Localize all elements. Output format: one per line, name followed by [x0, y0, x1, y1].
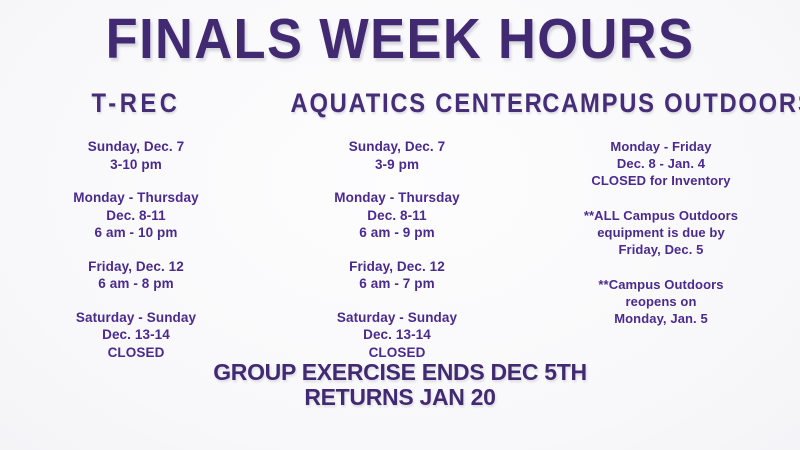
schedule-column-trec: T-REC Sunday, Dec. 7 3-10 pm Monday - Th…	[0, 88, 272, 361]
schedule-line: 6 am - 9 pm	[276, 224, 518, 242]
schedule-entry: Friday, Dec. 12 6 am - 7 pm	[276, 258, 518, 293]
schedule-line: Friday, Dec. 5	[526, 241, 796, 258]
schedule-entry: Saturday - Sunday Dec. 13-14 CLOSED	[276, 309, 518, 362]
schedule-column-aquatics-center: AQUATICS CENTER Sunday, Dec. 7 3-9 pm Mo…	[272, 88, 522, 361]
schedule-line: **ALL Campus Outdoors	[526, 207, 796, 224]
schedule-entry: Monday - Thursday Dec. 8-11 6 am - 9 pm	[276, 189, 518, 242]
schedule-line: Friday, Dec. 12	[10, 258, 262, 276]
group-exercise-banner: GROUP EXERCISE ENDS DEC 5TH RETURNS JAN …	[0, 360, 800, 410]
schedule-line: 3-10 pm	[10, 156, 262, 174]
schedule-columns: T-REC Sunday, Dec. 7 3-10 pm Monday - Th…	[0, 88, 800, 361]
finals-week-hours-poster: FINALS WEEK HOURS T-REC Sunday, Dec. 7 3…	[0, 0, 800, 450]
schedule-line: Monday, Jan. 5	[526, 310, 796, 327]
schedule-entry: Saturday - Sunday Dec. 13-14 CLOSED	[10, 309, 262, 362]
schedule-line: equipment is due by	[526, 224, 796, 241]
schedule-line: reopens on	[526, 293, 796, 310]
schedule-line: Dec. 8-11	[276, 207, 518, 225]
schedule-line: Monday - Friday	[526, 138, 796, 155]
column-heading-campus-outdoors: CAMPUS OUTDOORS	[542, 88, 780, 118]
banner-line: RETURNS JAN 20	[0, 385, 800, 410]
schedule-entry: Monday - Friday Dec. 8 - Jan. 4 CLOSED f…	[526, 138, 796, 189]
schedule-line: Saturday - Sunday	[276, 309, 518, 327]
schedule-line: Dec. 8-11	[10, 207, 262, 225]
schedule-entry: Sunday, Dec. 7 3-9 pm	[276, 138, 518, 173]
schedule-line: Dec. 8 - Jan. 4	[526, 155, 796, 172]
schedule-column-campus-outdoors: CAMPUS OUTDOORS Monday - Friday Dec. 8 -…	[522, 88, 800, 345]
schedule-line: Saturday - Sunday	[10, 309, 262, 327]
schedule-line: 6 am - 10 pm	[10, 224, 262, 242]
schedule-line: **Campus Outdoors	[526, 276, 796, 293]
schedule-line: Friday, Dec. 12	[276, 258, 518, 276]
schedule-entry: Friday, Dec. 12 6 am - 8 pm	[10, 258, 262, 293]
schedule-entry: Sunday, Dec. 7 3-10 pm	[10, 138, 262, 173]
schedule-line: 6 am - 8 pm	[10, 275, 262, 293]
column-heading-trec: T-REC	[25, 88, 247, 118]
schedule-line: Dec. 13-14	[10, 326, 262, 344]
banner-line: GROUP EXERCISE ENDS DEC 5TH	[0, 360, 800, 385]
column-heading-aquatics-center: AQUATICS CENTER	[291, 88, 504, 118]
page-title: FINALS WEEK HOURS	[32, 8, 768, 70]
schedule-line: Sunday, Dec. 7	[10, 138, 262, 156]
schedule-line: Monday - Thursday	[10, 189, 262, 207]
schedule-line: Monday - Thursday	[276, 189, 518, 207]
schedule-note: **ALL Campus Outdoors equipment is due b…	[526, 207, 796, 258]
schedule-line: Dec. 13-14	[276, 326, 518, 344]
schedule-line: Sunday, Dec. 7	[276, 138, 518, 156]
schedule-entry: Monday - Thursday Dec. 8-11 6 am - 10 pm	[10, 189, 262, 242]
schedule-line: 6 am - 7 pm	[276, 275, 518, 293]
schedule-line: 3-9 pm	[276, 156, 518, 174]
schedule-line: CLOSED for Inventory	[526, 172, 796, 189]
schedule-note: **Campus Outdoors reopens on Monday, Jan…	[526, 276, 796, 327]
